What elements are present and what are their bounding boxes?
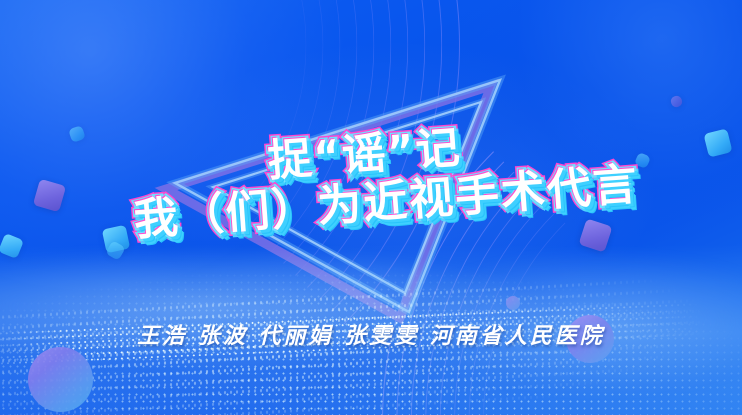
credits-line: 王浩 张波 代丽娟 张雯雯 河南省人民医院 — [0, 318, 742, 350]
video-title-card: 捉“谣”记 我（们）为近视手术代言 王浩 张波 代丽娟 张雯雯 河南省人民医院 — [0, 0, 742, 415]
title-block: 捉“谣”记 我（们）为近视手术代言 — [0, 0, 742, 415]
